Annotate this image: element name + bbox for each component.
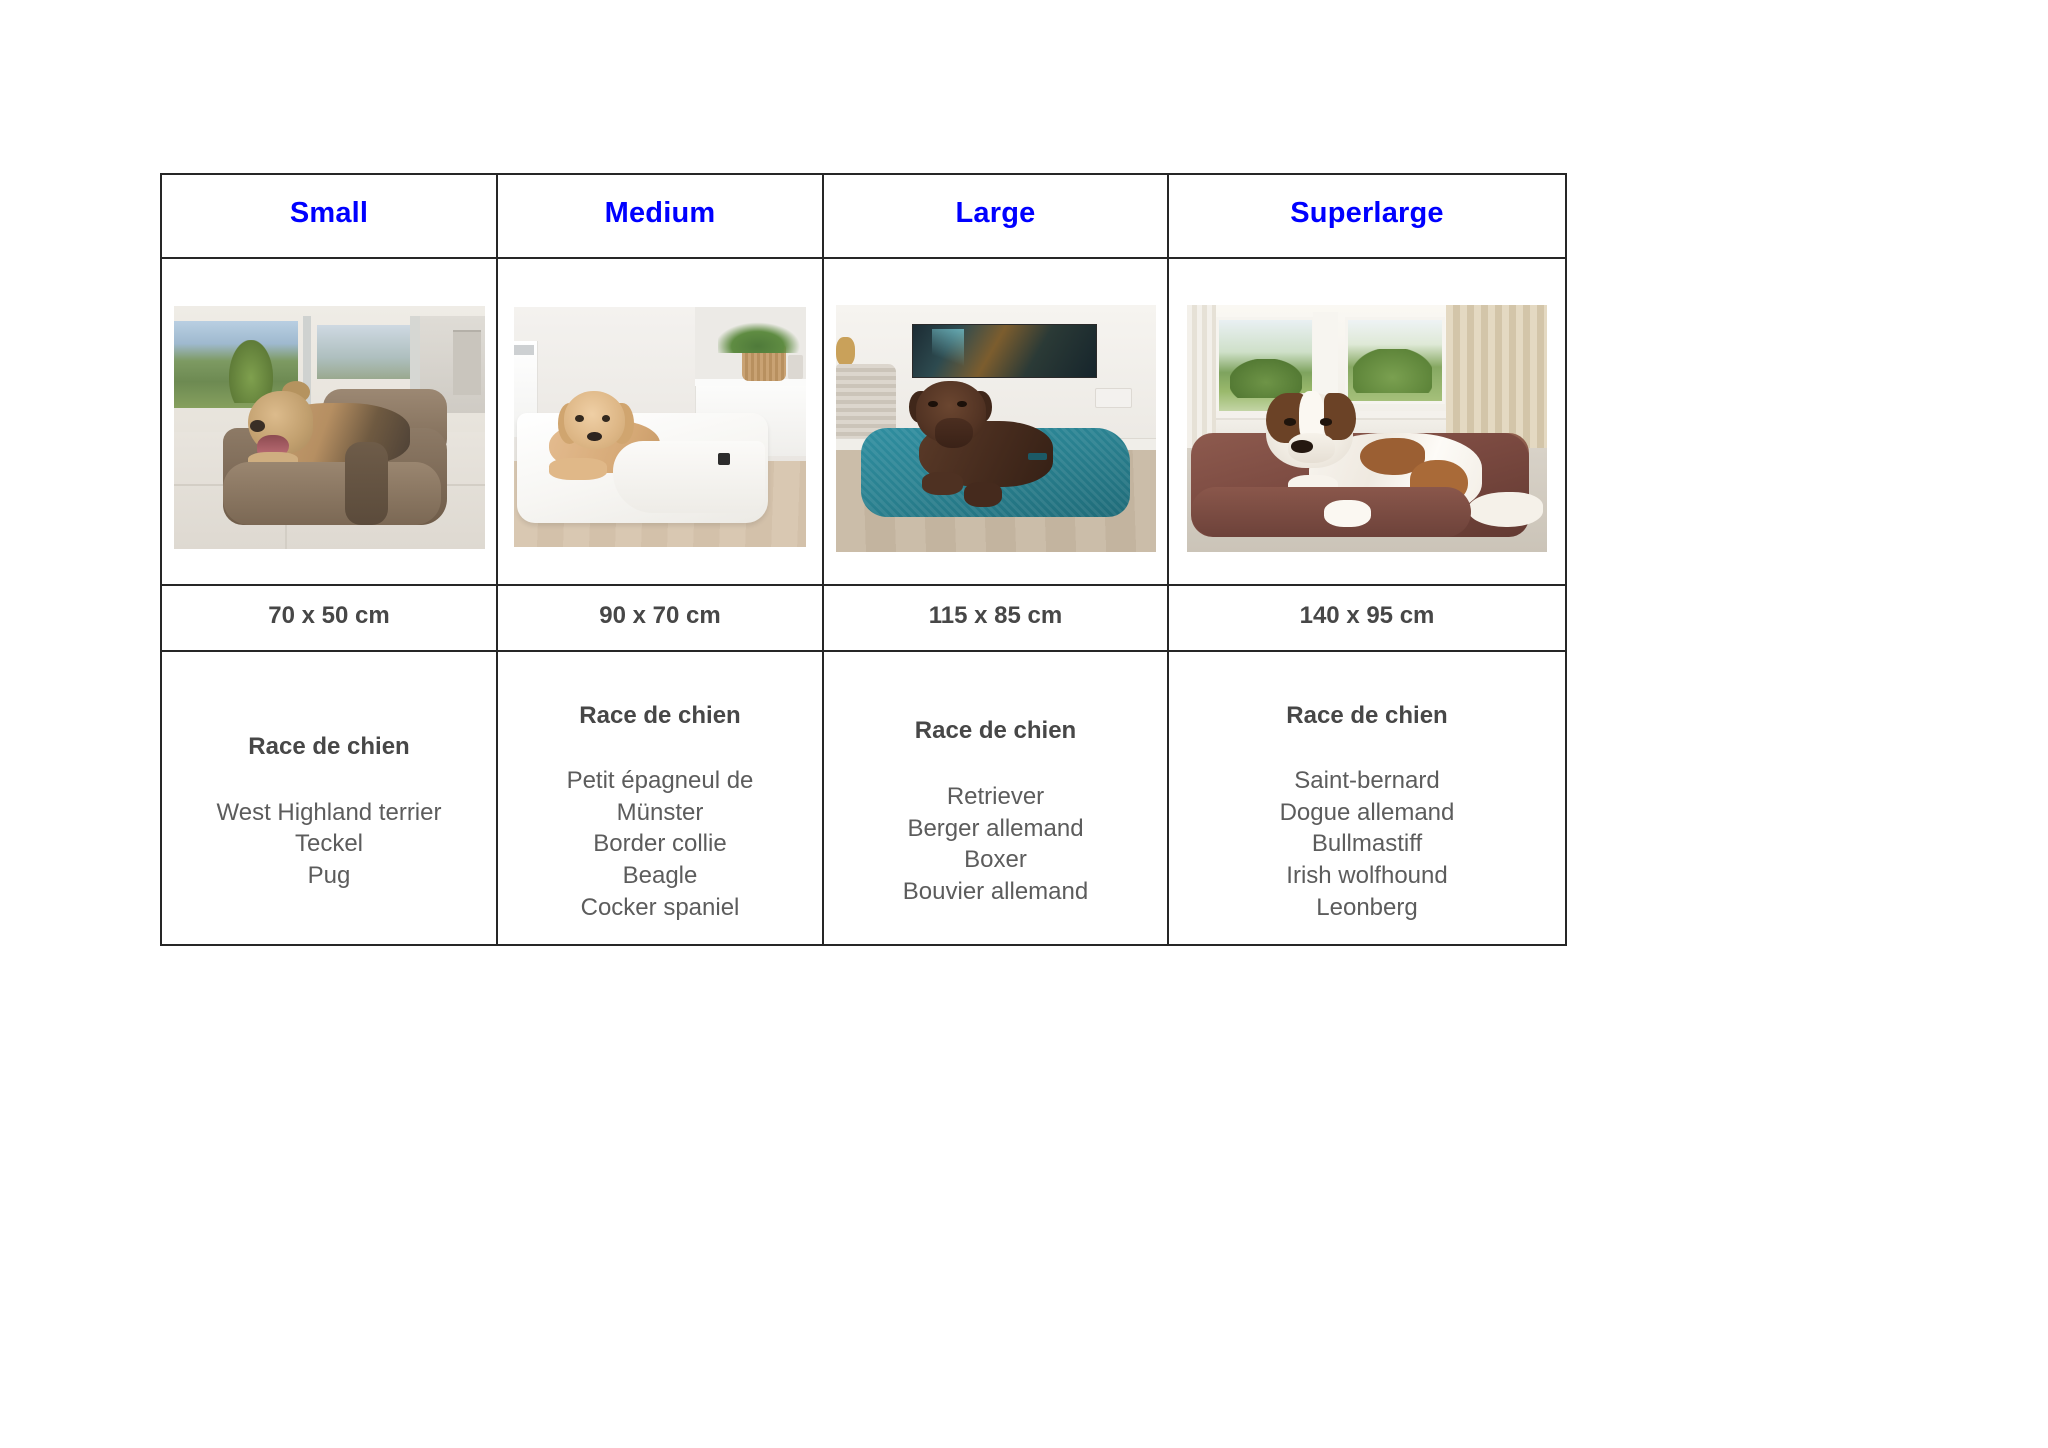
breed-heading-small: Race de chien [162,734,496,760]
dimension-cell-large: 115 x 85 cm [823,585,1168,651]
size-title-medium: Medium [498,199,822,234]
breeds-cell-superlarge: Race de chien Saint-bernardDogue alleman… [1168,651,1566,945]
large-scene [836,305,1156,552]
breed-item: Bouvier allemand [824,876,1167,908]
breed-item: Münster [498,797,822,829]
breed-heading-medium: Race de chien [498,703,822,729]
small-scene [174,306,485,549]
photo-cell-superlarge [1168,258,1566,585]
breed-item: Pug [162,860,496,892]
dimension-large: 115 x 85 cm [824,602,1167,634]
dimension-superlarge: 140 x 95 cm [1169,602,1565,634]
breed-item: Cocker spaniel [498,892,822,924]
photo-cell-large [823,258,1168,585]
size-header-row: Small Medium Large Superlarge [161,174,1566,258]
dimension-small: 70 x 50 cm [162,602,496,634]
breed-item: Berger allemand [824,813,1167,845]
dimension-cell-small: 70 x 50 cm [161,585,497,651]
photo-cell-small [161,258,497,585]
breed-item: Beagle [498,860,822,892]
breed-item: Dogue allemand [1169,797,1565,829]
breed-item: Petit épagneul de [498,765,822,797]
breed-item: Border collie [498,828,822,860]
breed-item: Teckel [162,828,496,860]
breed-heading-large: Race de chien [824,718,1167,744]
breed-item: Boxer [824,844,1167,876]
dimension-row: 70 x 50 cm 90 x 70 cm 115 x 85 cm 140 x … [161,585,1566,651]
dimension-cell-superlarge: 140 x 95 cm [1168,585,1566,651]
breed-item: Retriever [824,781,1167,813]
breed-heading-superlarge: Race de chien [1169,703,1565,729]
superlarge-scene [1187,305,1547,552]
breed-item: Irish wolfhound [1169,860,1565,892]
breeds-cell-small: Race de chien West Highland terrierTecke… [161,651,497,945]
size-title-superlarge: Superlarge [1169,199,1565,234]
dog-bed-size-table: Small Medium Large Superlarge [160,173,1567,946]
breeds-row: Race de chien West Highland terrierTecke… [161,651,1566,945]
header-cell-large: Large [823,174,1168,258]
medium-dog-bed-photo [514,307,806,547]
dimension-cell-medium: 90 x 70 cm [497,585,823,651]
breed-item: Bullmastiff [1169,828,1565,860]
breed-item: Leonberg [1169,892,1565,924]
breed-list-large: RetrieverBerger allemandBoxerBouvier all… [824,781,1167,908]
photo-cell-medium [497,258,823,585]
medium-scene [514,307,806,547]
header-cell-medium: Medium [497,174,823,258]
breeds-cell-medium: Race de chien Petit épagneul deMünsterBo… [497,651,823,945]
photo-row [161,258,1566,585]
header-cell-superlarge: Superlarge [1168,174,1566,258]
size-title-small: Small [162,199,496,234]
size-title-large: Large [824,199,1167,234]
breed-item: Saint-bernard [1169,765,1565,797]
breeds-cell-large: Race de chien RetrieverBerger allemandBo… [823,651,1168,945]
breed-list-small: West Highland terrierTeckelPug [162,797,496,892]
breed-list-medium: Petit épagneul deMünsterBorder collieBea… [498,765,822,923]
breed-item: West Highland terrier [162,797,496,829]
superlarge-dog-bed-photo [1187,305,1547,552]
header-cell-small: Small [161,174,497,258]
large-dog-bed-photo [836,305,1156,552]
small-dog-bed-photo [174,306,485,549]
dimension-medium: 90 x 70 cm [498,602,822,634]
breed-list-superlarge: Saint-bernardDogue allemandBullmastiffIr… [1169,765,1565,923]
